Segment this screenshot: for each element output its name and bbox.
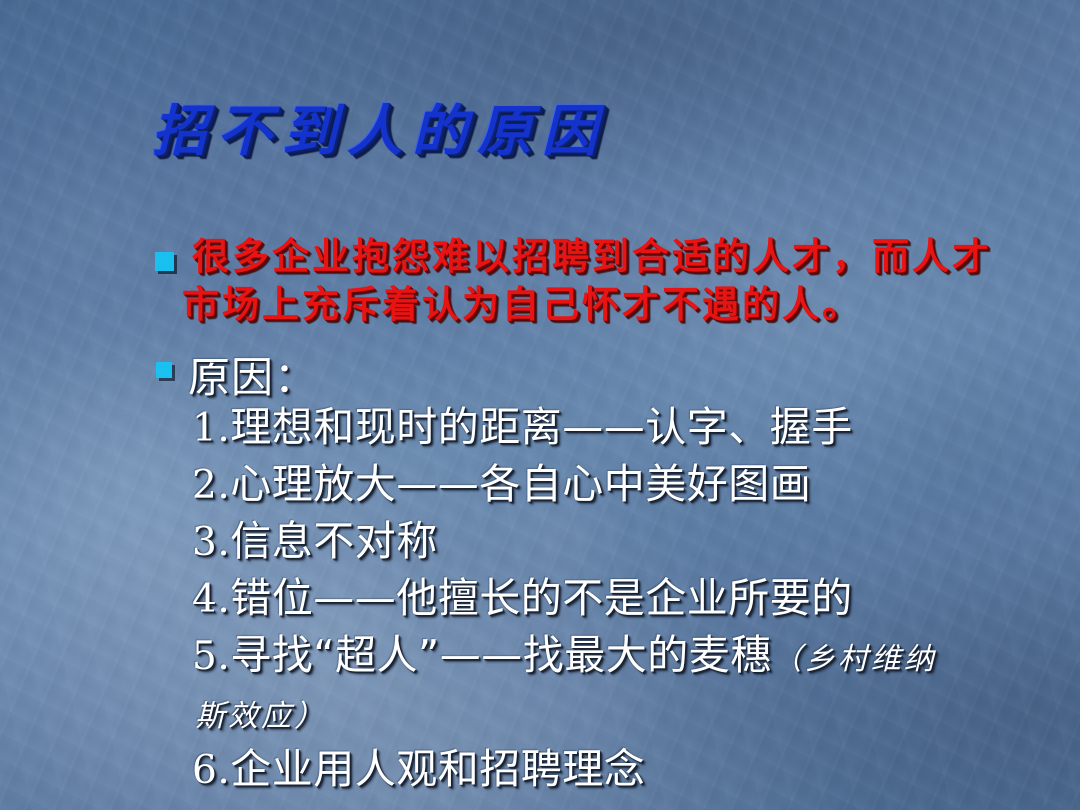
- presentation-slide: 招不到人的原因 很多企业抱怨难以招聘到合适的人才，而人才 市场上充斥着认为自己怀…: [0, 0, 1080, 810]
- list-item-number: 4.: [192, 571, 230, 628]
- emphasis-line-2: 市场上充斥着认为自己怀才不遇的人。: [182, 281, 1080, 329]
- list-item-text: 企业用人观和招聘理念: [230, 745, 645, 793]
- list-item: 1.理想和现时的距离——认字、握手: [192, 399, 1080, 456]
- list-item: 6.企业用人观和招聘理念: [192, 741, 1080, 798]
- square-bullet-icon: [155, 252, 174, 271]
- emphasis-paragraph: 很多企业抱怨难以招聘到合适的人才，而人才 市场上充斥着认为自己怀才不遇的人。: [192, 233, 1080, 329]
- list-item: 3.信息不对称: [192, 513, 1080, 570]
- list-item-text: 理想和现时的距离——认字、握手: [230, 403, 853, 451]
- list-item-text: 信息不对称: [230, 517, 438, 565]
- list-item-number: 2.: [192, 457, 230, 514]
- list-item-text: 心理放大——各自心中美好图画: [230, 460, 811, 508]
- list-item: 5.寻找“超人”——找最大的麦穗（乡村维纳: [192, 627, 1080, 684]
- list-item-note: （乡村维纳: [772, 642, 937, 677]
- list-item-text: 寻找“超人”——找最大的麦穗: [230, 631, 771, 679]
- list-item-number: 6.: [192, 742, 230, 799]
- list-item: 4.错位——他擅长的不是企业所要的: [192, 570, 1080, 627]
- square-bullet-icon: [156, 362, 172, 378]
- reasons-list: 1.理想和现时的距离——认字、握手 2.心理放大——各自心中美好图画 3.信息不…: [192, 399, 1080, 798]
- emphasis-line-1: 很多企业抱怨难以招聘到合适的人才，而人才: [192, 233, 1080, 281]
- list-item-number: 3.: [192, 514, 230, 571]
- list-item-note-continuation: 斯效应）: [192, 684, 1080, 741]
- slide-title: 招不到人的原因: [152, 86, 607, 166]
- list-item: 2.心理放大——各自心中美好图画: [192, 456, 1080, 513]
- reasons-heading: 原因：: [188, 344, 317, 405]
- list-item-number: 1.: [192, 400, 230, 457]
- list-item-number: 5.: [192, 628, 230, 685]
- list-item-text: 错位——他擅长的不是企业所要的: [230, 574, 853, 622]
- list-item-note-text: 斯效应）: [195, 699, 327, 734]
